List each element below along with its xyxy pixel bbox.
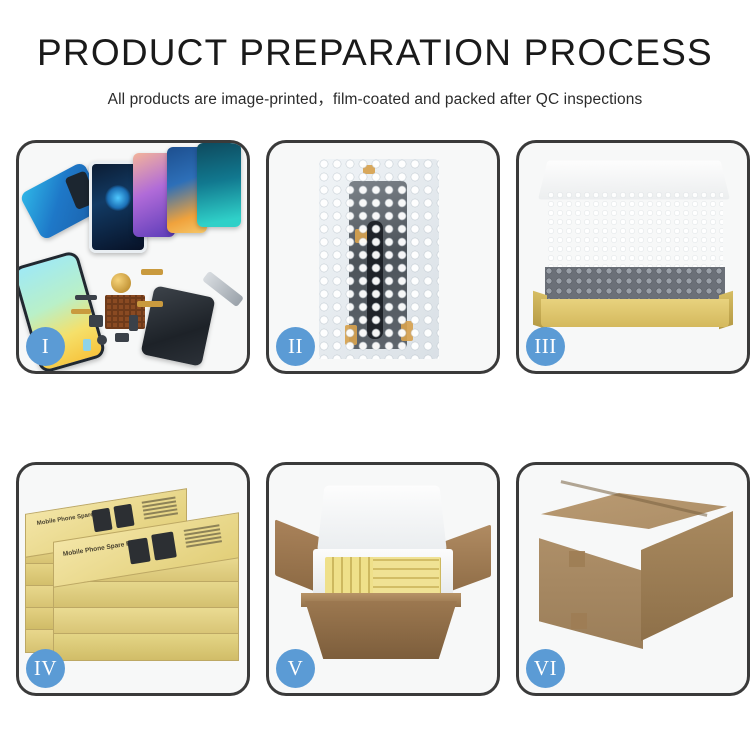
step-panel-1: I [16, 140, 250, 374]
box-label-phone-graphic [113, 504, 134, 529]
stacked-box [53, 607, 239, 635]
phone-back-housing [140, 285, 215, 366]
box-label-phone-graphic [91, 508, 112, 533]
flex-cable [141, 269, 163, 275]
flex-cable [71, 309, 91, 314]
step-panel-4: Mobile Phone Spare Parts Mobile Phone Sp… [16, 462, 250, 696]
carton-left-face [539, 523, 643, 649]
small-part [129, 315, 138, 331]
page-header: PRODUCT PREPARATION PROCESS All products… [0, 0, 750, 109]
carton-tape [569, 551, 585, 567]
page-subtitle: All products are image-printed，film-coat… [0, 87, 750, 109]
step-badge-2: II [276, 327, 315, 366]
step-panel-3: III [516, 140, 750, 374]
carton-tape [571, 613, 587, 629]
stacked-box [53, 633, 239, 661]
step-badge-3: III [526, 327, 565, 366]
phone-screen-teal [197, 143, 241, 227]
stacked-box [53, 581, 239, 609]
styrofoam-lid [317, 486, 447, 553]
step-badge-4: IV [26, 649, 65, 688]
step-panel-6: VI [516, 462, 750, 696]
small-part [97, 335, 107, 345]
foam-sheet [547, 191, 723, 269]
box-label-phone-graphic [151, 531, 177, 560]
step-badge-1: I [26, 327, 65, 366]
small-part [89, 315, 103, 327]
chip-component-icon [111, 273, 131, 293]
bubble-wrapped-contents [545, 267, 725, 301]
step-badge-5: V [276, 649, 315, 688]
step-panel-5: V [266, 462, 500, 696]
flex-cable [137, 301, 163, 307]
box-stack: Mobile Phone Spare Parts Mobile Phone Sp… [25, 483, 243, 673]
kraft-box-front [541, 299, 729, 327]
small-part [115, 333, 129, 342]
carton-right-face [641, 511, 733, 641]
small-part [75, 295, 97, 300]
bubble-wrap-bag [319, 159, 439, 359]
small-part [83, 339, 91, 351]
step-panel-2: II [266, 140, 500, 374]
process-steps-grid: I II III [16, 140, 734, 736]
carton-body [305, 601, 457, 659]
page-title: PRODUCT PREPARATION PROCESS [0, 34, 750, 71]
bubble-texture [319, 159, 439, 359]
step-badge-6: VI [526, 649, 565, 688]
packed-kraft-boxes [373, 557, 439, 595]
box-label-phone-graphic [127, 538, 151, 565]
